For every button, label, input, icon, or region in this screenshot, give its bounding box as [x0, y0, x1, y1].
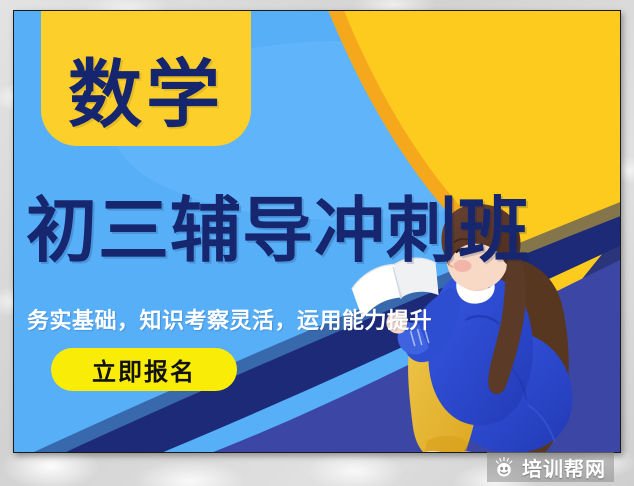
subject-chip: 数学 [41, 10, 251, 146]
site-watermark: 培训帮网 [487, 452, 614, 482]
subheading-text: 务实基础，知识考察灵活，运用能力提升 [27, 303, 432, 335]
course-promo-banner: 数学 初三辅导冲刺班 务实基础，知识考察灵活，运用能力提升 立即报名 [13, 10, 621, 453]
page-title: 初三辅导冲刺班 [26, 174, 610, 276]
enroll-now-button[interactable]: 立即报名 [51, 348, 237, 391]
sun-face-icon [493, 456, 515, 478]
subject-chip-label: 数学 [68, 59, 224, 132]
enroll-now-button-label: 立即报名 [92, 352, 196, 387]
watermark-text: 培训帮网 [522, 453, 606, 482]
